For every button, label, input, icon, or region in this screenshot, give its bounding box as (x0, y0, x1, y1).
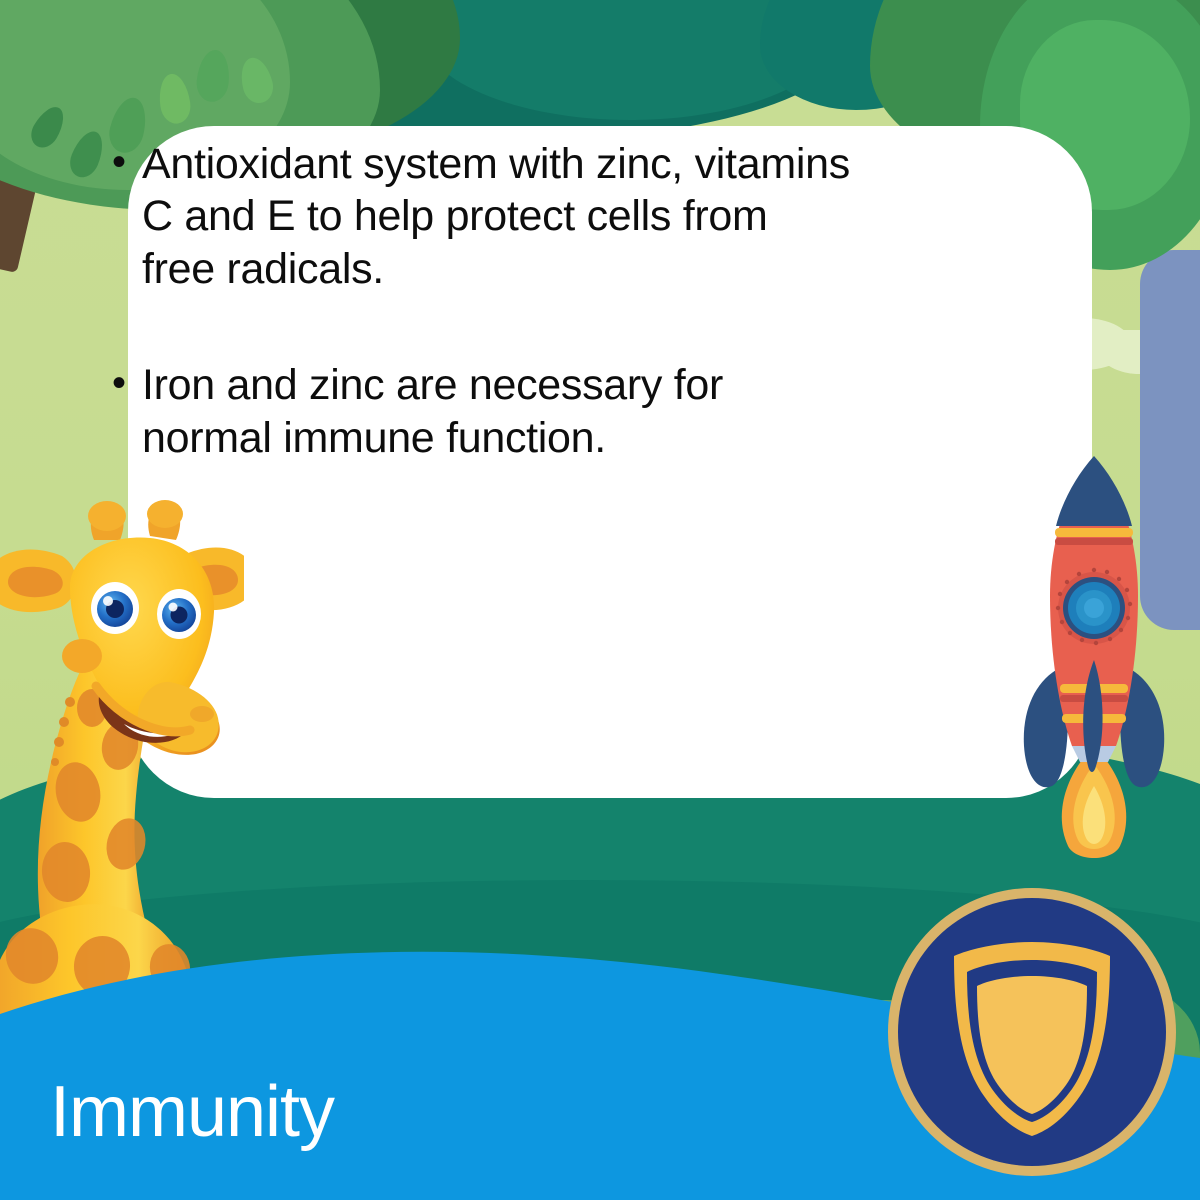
bullet-marker: • (112, 359, 142, 408)
bullet-text: Antioxidant system with zinc, vitamins C… (142, 138, 852, 295)
rocket-illustration (1012, 446, 1176, 866)
bullet-marker: • (112, 138, 142, 187)
list-item: • Iron and zinc are necessary for normal… (112, 359, 852, 464)
bullet-text: Iron and zinc are necessary for normal i… (142, 359, 852, 464)
bullet-list: • Antioxidant system with zinc, vitamins… (112, 138, 852, 464)
page-title: Immunity (50, 1076, 334, 1148)
immunity-slide: • Antioxidant system with zinc, vitamins… (0, 0, 1200, 1200)
shield-badge[interactable] (884, 884, 1180, 1180)
list-item: • Antioxidant system with zinc, vitamins… (112, 138, 852, 295)
